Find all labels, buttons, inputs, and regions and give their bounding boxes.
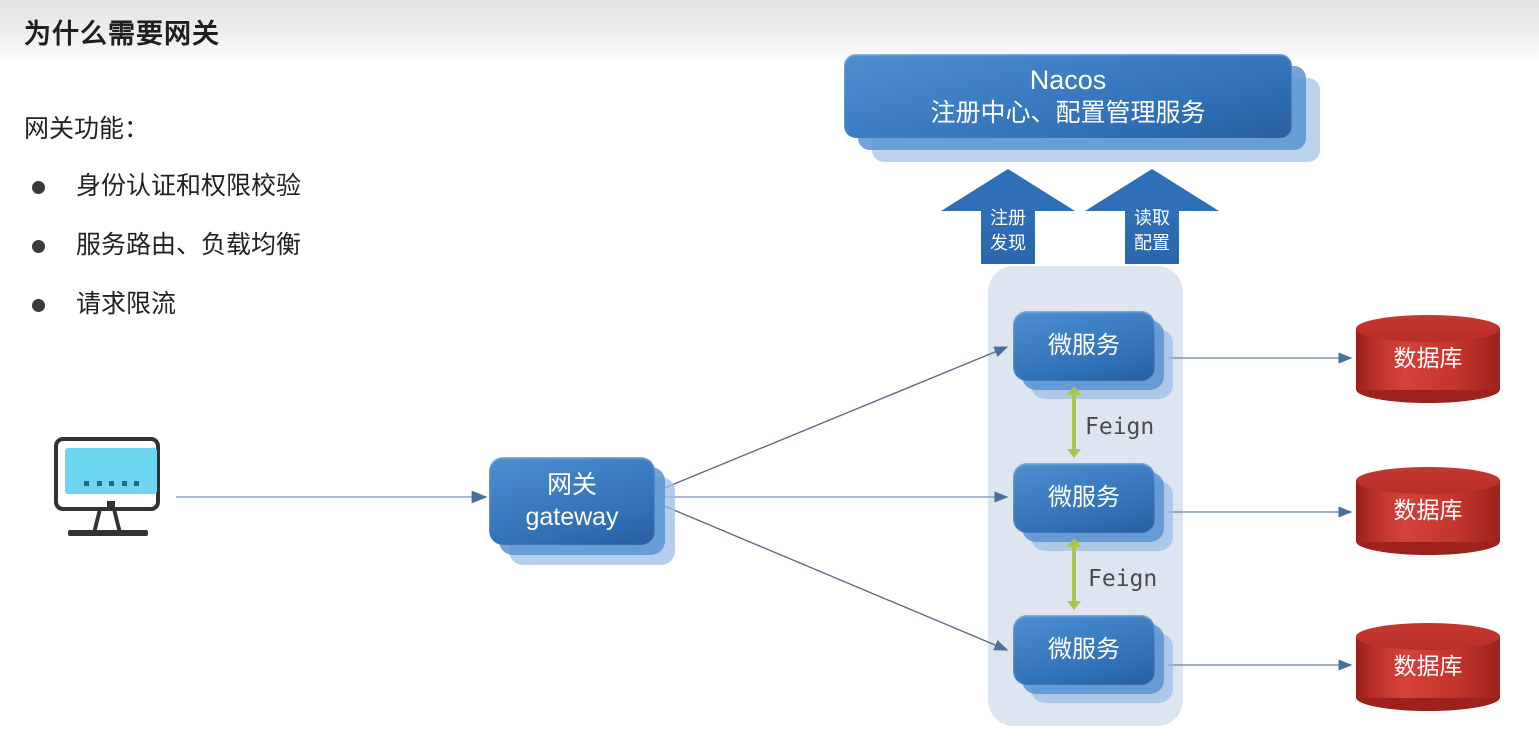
arrow-head-down-icon — [1067, 449, 1081, 458]
list-item: 请求限流 — [24, 283, 444, 342]
nacos-face: Nacos 注册中心、配置管理服务 — [844, 54, 1292, 138]
page-title: 为什么需要网关 — [24, 12, 220, 51]
register-discovery-label: 注册 发现 — [941, 206, 1075, 256]
db-cylinder-top — [1356, 623, 1500, 650]
list-item: 身份认证和权限校验 — [24, 165, 444, 224]
monitor-icon — [54, 437, 172, 547]
read-config-label: 读取 配置 — [1085, 206, 1219, 256]
monitor-frame — [54, 437, 160, 511]
monitor-power-button-icon — [107, 501, 115, 510]
microservice-label: 微服务 — [1048, 331, 1120, 361]
microservice-label: 微服务 — [1048, 635, 1120, 665]
gateway-node[interactable]: 网关 gateway — [489, 457, 655, 545]
list-item: 服务路由、负载均衡 — [24, 224, 444, 283]
microservice-node-3[interactable]: 微服务 — [1013, 615, 1155, 685]
nacos-subtitle: 注册中心、配置管理服务 — [930, 97, 1205, 130]
microservice-face: 微服务 — [1013, 463, 1155, 533]
microservice-face: 微服务 — [1013, 615, 1155, 685]
arrow-head-up-icon — [941, 169, 1075, 211]
feign-label-1: Feign — [1085, 414, 1154, 440]
microservice-label: 微服务 — [1048, 483, 1120, 513]
register-discovery-arrow: 注册 发现 — [941, 169, 1075, 264]
feign-label-2: Feign — [1088, 566, 1157, 592]
database-node-2[interactable]: 数据库 — [1356, 467, 1500, 555]
arrow-head-down-icon — [1067, 601, 1081, 610]
monitor-screen-dots-icon — [84, 481, 139, 486]
db-cylinder-top — [1356, 315, 1500, 342]
bullet-dot-icon — [32, 181, 45, 194]
arrow-head-up-icon — [1085, 169, 1219, 211]
gateway-subtitle: gateway — [525, 501, 618, 533]
monitor-stand-neck — [91, 511, 123, 531]
bullet-dot-icon — [32, 240, 45, 253]
database-node-1[interactable]: 数据库 — [1356, 315, 1500, 403]
list-item-label: 服务路由、负载均衡 — [76, 224, 301, 266]
gateway-title: 网关 — [547, 470, 597, 501]
microservice-node-1[interactable]: 微服务 — [1013, 311, 1155, 381]
gateway-face: 网关 gateway — [489, 457, 655, 545]
list-item-label: 身份认证和权限校验 — [76, 165, 301, 207]
microservice-face: 微服务 — [1013, 311, 1155, 381]
read-config-arrow: 读取 配置 — [1085, 169, 1219, 264]
bullet-dot-icon — [32, 299, 45, 312]
database-label: 数据库 — [1356, 651, 1500, 681]
db-cylinder-top — [1356, 467, 1500, 494]
microservice-node-2[interactable]: 微服务 — [1013, 463, 1155, 533]
monitor-screen — [65, 448, 157, 494]
nacos-node[interactable]: Nacos 注册中心、配置管理服务 — [844, 54, 1292, 138]
database-label: 数据库 — [1356, 495, 1500, 525]
list-item-label: 请求限流 — [76, 283, 176, 325]
database-node-3[interactable]: 数据库 — [1356, 623, 1500, 711]
feign-arrow-1-icon — [1067, 386, 1081, 458]
slide-root: 为什么需要网关 网关功能： 身份认证和权限校验 服务路由、负载均衡 请求限流 — [0, 0, 1539, 742]
nacos-title: Nacos — [1030, 63, 1107, 97]
title-band — [0, 0, 1539, 64]
monitor-stand-base — [68, 530, 148, 536]
gateway-functions-list: 身份认证和权限校验 服务路由、负载均衡 请求限流 — [24, 165, 444, 342]
feign-arrow-2-icon — [1067, 538, 1081, 610]
arrow-shaft — [1072, 545, 1076, 603]
gateway-functions-heading: 网关功能： — [24, 109, 149, 145]
arrow-shaft — [1072, 393, 1076, 451]
database-label: 数据库 — [1356, 343, 1500, 373]
